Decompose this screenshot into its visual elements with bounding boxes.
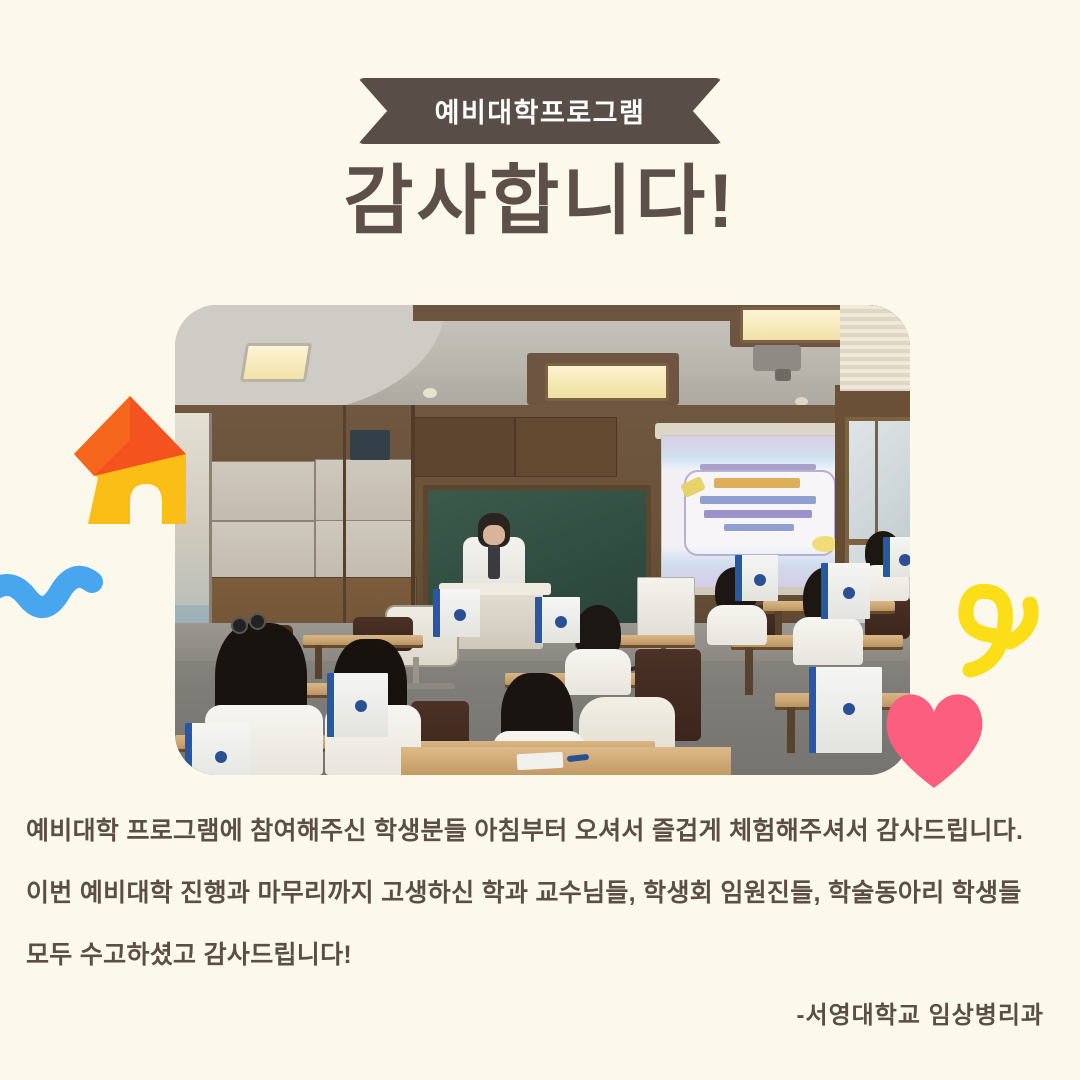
presenter-face bbox=[483, 525, 505, 545]
foreground-desk bbox=[401, 747, 731, 775]
wall-speaker bbox=[350, 430, 390, 460]
presenter-tie bbox=[488, 545, 500, 579]
wall-panel-2 bbox=[315, 459, 415, 521]
body-line-3: 모두 수고하셨고 감사드립니다! bbox=[26, 924, 1056, 986]
tote-logo bbox=[555, 616, 567, 628]
tote-logo bbox=[454, 609, 466, 621]
wall-seam-1 bbox=[411, 405, 415, 625]
heart-sticker bbox=[878, 684, 990, 794]
wall-seam-2 bbox=[343, 405, 346, 625]
tote-bag-4 bbox=[535, 597, 580, 643]
program-ribbon-banner: 예비대학프로그램 bbox=[358, 78, 722, 144]
wall-panel-4 bbox=[315, 520, 415, 579]
signature: -서영대학교 임상병리과 bbox=[797, 995, 1044, 1030]
ceiling-spotlight-1 bbox=[423, 388, 437, 398]
paper-sheet bbox=[517, 752, 564, 770]
tote-logo bbox=[754, 574, 766, 586]
body-line-1: 예비대학 프로그램에 참여해주신 학생분들 아침부터 오셔서 즐겁게 체험해주셔… bbox=[26, 800, 1056, 862]
upper-cabinet-1 bbox=[413, 417, 515, 477]
ceiling-light-1 bbox=[240, 343, 312, 382]
ceiling-light-2 bbox=[545, 363, 669, 401]
student-coat-4 bbox=[565, 649, 631, 695]
classroom-photo bbox=[175, 305, 910, 775]
tote-logo bbox=[355, 700, 367, 712]
projector bbox=[753, 345, 801, 371]
page-title: 감사합니다! bbox=[0, 160, 1080, 244]
tote-bag-8 bbox=[883, 537, 910, 577]
projector-lens bbox=[775, 369, 791, 381]
house-arrow-sticker bbox=[68, 392, 192, 532]
tote-bag-2 bbox=[185, 723, 250, 775]
ribbon-label: 예비대학프로그램 bbox=[358, 78, 722, 144]
tote-logo bbox=[215, 751, 227, 763]
wall-panel-3 bbox=[205, 521, 315, 579]
hair-clip-1 bbox=[231, 617, 248, 634]
hair-clip-2 bbox=[249, 613, 266, 630]
curl-loop-sticker bbox=[946, 576, 1050, 678]
tote-bag-7 bbox=[809, 667, 882, 753]
window-blind bbox=[840, 305, 910, 391]
desk-right-3-leg bbox=[787, 707, 795, 753]
tote-bag-1 bbox=[327, 673, 388, 737]
wall-panel-1 bbox=[205, 461, 315, 521]
slide-text-line-2 bbox=[700, 496, 816, 504]
student-coat-6 bbox=[793, 617, 863, 665]
tote-bag-5 bbox=[735, 555, 778, 601]
body-message: 예비대학 프로그램에 참여해주신 학생분들 아침부터 오셔서 즐겁게 체험해주셔… bbox=[26, 800, 1056, 986]
tote-logo bbox=[899, 554, 910, 566]
slide-text-line-4 bbox=[724, 524, 794, 531]
slide-text-line-3 bbox=[704, 510, 812, 518]
tote-logo bbox=[843, 587, 855, 599]
right-window-divider bbox=[875, 417, 878, 535]
body-line-2: 이번 예비대학 진행과 마무리까지 고생하신 학과 교수님들, 학생회 임원진들… bbox=[26, 862, 1056, 924]
slide-year-line bbox=[714, 478, 800, 488]
tote-bag-3 bbox=[433, 589, 480, 637]
desk-right-2-leg bbox=[745, 647, 753, 695]
upper-cabinet-2 bbox=[515, 417, 617, 477]
desk-left-1-leg bbox=[315, 645, 322, 679]
student-coat-5 bbox=[707, 605, 767, 645]
tote-bag-6 bbox=[821, 563, 870, 619]
wave-squiggle-sticker bbox=[0, 552, 104, 632]
tote-logo bbox=[843, 703, 855, 715]
poster-card: 예비대학프로그램 감사합니다! bbox=[0, 0, 1080, 1080]
slide-text-line-1 bbox=[700, 464, 816, 470]
